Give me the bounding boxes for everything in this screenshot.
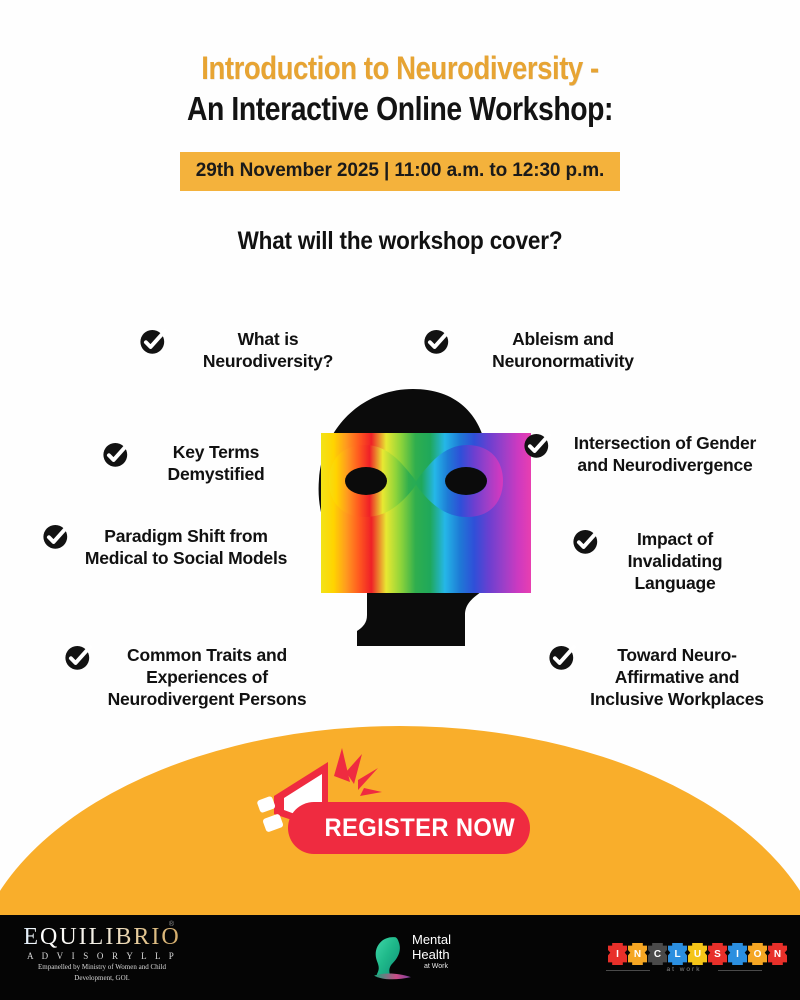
section-heading-coverage: What will the workshop cover? xyxy=(40,227,760,256)
check-icon-impact-invalidating-language xyxy=(570,524,604,558)
checkmark-circle-icon xyxy=(137,324,171,358)
topic-line: Common Traits and xyxy=(92,644,322,666)
mhaw-line-2: Health xyxy=(412,948,451,963)
mhaw-line-3: at Work xyxy=(424,963,451,971)
puzzle-letter: N xyxy=(634,949,641,960)
mhaw-line-1: Mental xyxy=(412,933,451,948)
registered-trademark-icon: ® xyxy=(169,921,174,928)
inclusion-puzzle-letters: I N C L U S I O N xyxy=(608,943,787,965)
topic-line: Neuronormativity xyxy=(452,350,674,372)
checkmark-circle-icon xyxy=(100,437,134,471)
puzzle-piece-l: L xyxy=(668,943,687,965)
topic-line: Toward Neuro- xyxy=(574,644,780,666)
head-silhouette-illustration xyxy=(305,383,535,648)
topic-line: What is xyxy=(178,328,358,350)
topic-line: Affirmative and xyxy=(574,666,780,688)
topic-line: Paradigm Shift from xyxy=(60,525,312,547)
puzzle-piece-o: O xyxy=(748,943,767,965)
puzzle-letter: S xyxy=(714,949,721,960)
checkmark-circle-icon xyxy=(421,324,455,358)
puzzle-piece-i1: I xyxy=(608,943,627,965)
topic-label-what-is-neurodiversity: What is Neurodiversity? xyxy=(178,328,358,372)
puzzle-letter: I xyxy=(616,949,619,960)
puzzle-piece-s: S xyxy=(708,943,727,965)
topic-line: Impact of xyxy=(600,528,750,550)
topic-line: Key Terms xyxy=(136,441,296,463)
topic-line: Language xyxy=(600,572,750,594)
logo-inclusion-at-work: I N C L U S I O N at work xyxy=(600,935,768,983)
topic-label-neuro-affirmative-workplaces: Toward Neuro- Affirmative and Inclusive … xyxy=(574,644,780,710)
register-cta-group[interactable]: REGISTER NOW xyxy=(250,736,550,866)
topic-line: Neurodivergent Persons xyxy=(92,688,322,710)
topic-line: Intersection of Gender xyxy=(549,432,781,454)
date-banner-wrapper: 29th November 2025 | 11:00 a.m. to 12:30… xyxy=(0,152,800,191)
checkmark-circle-icon xyxy=(570,524,604,558)
puzzle-letter: O xyxy=(754,949,762,960)
check-icon-what-is-neurodiversity xyxy=(137,324,171,358)
register-now-label: REGISTER NOW xyxy=(303,814,515,843)
puzzle-letter: C xyxy=(654,949,661,960)
equilibrio-subtitle: A D V I S O R Y L L P xyxy=(14,951,190,961)
poster-header: Introduction to Neurodiversity - An Inte… xyxy=(0,0,800,256)
page-title-line-1: Introduction to Neurodiversity - xyxy=(56,52,744,86)
face-profile-icon xyxy=(368,927,414,989)
topic-line: Experiences of xyxy=(92,666,322,688)
head-infinity-icon xyxy=(305,383,535,648)
topic-label-paradigm-shift: Paradigm Shift from Medical to Social Mo… xyxy=(60,525,312,569)
topic-line: Inclusive Workplaces xyxy=(574,688,780,710)
topic-line: and Neurodivergence xyxy=(549,454,781,476)
puzzle-piece-n1: N xyxy=(628,943,647,965)
topic-label-intersection-gender: Intersection of Gender and Neurodivergen… xyxy=(549,432,781,476)
puzzle-piece-i2: I xyxy=(728,943,747,965)
topic-label-common-traits: Common Traits and Experiences of Neurodi… xyxy=(92,644,322,710)
logo-equilibrio: ® EQUILIBRIO A D V I S O R Y L L P Empan… xyxy=(14,925,190,983)
puzzle-piece-c: C xyxy=(648,943,667,965)
puzzle-letter: N xyxy=(774,949,781,960)
page-title-line-2: An Interactive Online Workshop: xyxy=(56,92,744,127)
inclusion-subtitle: at work xyxy=(600,966,768,973)
topic-line: Neurodiversity? xyxy=(178,350,358,372)
date-time-banner: 29th November 2025 | 11:00 a.m. to 12:30… xyxy=(180,152,620,191)
mental-health-at-work-text: Mental Health at Work xyxy=(412,933,451,971)
footer-bar: ® EQUILIBRIO A D V I S O R Y L L P Empan… xyxy=(0,915,800,1000)
poster-root: Introduction to Neurodiversity - An Inte… xyxy=(0,0,800,1000)
logo-mental-health-at-work: Mental Health at Work xyxy=(368,927,480,989)
check-icon-key-terms-demystified xyxy=(100,437,134,471)
topic-label-key-terms-demystified: Key Terms Demystified xyxy=(136,441,296,485)
puzzle-letter: L xyxy=(674,949,680,960)
equilibrio-note-line-1: Empanelled by Ministry of Women and Chil… xyxy=(14,963,190,972)
topic-label-impact-invalidating-language: Impact of Invalidating Language xyxy=(600,528,750,594)
checkmark-circle-icon xyxy=(62,640,96,674)
equilibrio-wordmark: EQUILIBRIO xyxy=(14,925,190,950)
puzzle-letter: I xyxy=(736,949,739,960)
topic-line: Medical to Social Models xyxy=(60,547,312,569)
topic-line: Invalidating xyxy=(600,550,750,572)
puzzle-piece-u: U xyxy=(688,943,707,965)
check-icon-common-traits xyxy=(62,640,96,674)
register-now-button[interactable]: REGISTER NOW xyxy=(288,802,530,854)
puzzle-piece-n2: N xyxy=(768,943,787,965)
puzzle-letter: U xyxy=(694,949,701,960)
topic-line: Demystified xyxy=(136,463,296,485)
equilibrio-note-line-2: Development, GOI. xyxy=(14,974,190,983)
topic-line: Ableism and xyxy=(452,328,674,350)
check-icon-ableism-neuronormativity xyxy=(421,324,455,358)
topic-label-ableism-neuronormativity: Ableism and Neuronormativity xyxy=(452,328,674,372)
